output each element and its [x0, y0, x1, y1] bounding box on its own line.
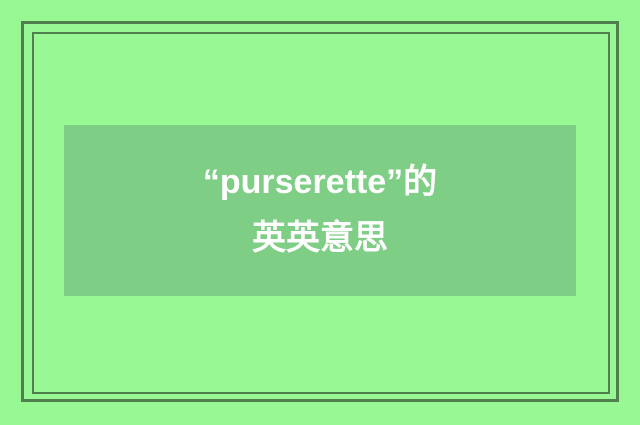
page-title: “purserette”的英英意思 [201, 155, 439, 265]
title-card: “purserette”的英英意思 [64, 125, 576, 296]
page-root: “purserette”的英英意思 [0, 0, 640, 425]
